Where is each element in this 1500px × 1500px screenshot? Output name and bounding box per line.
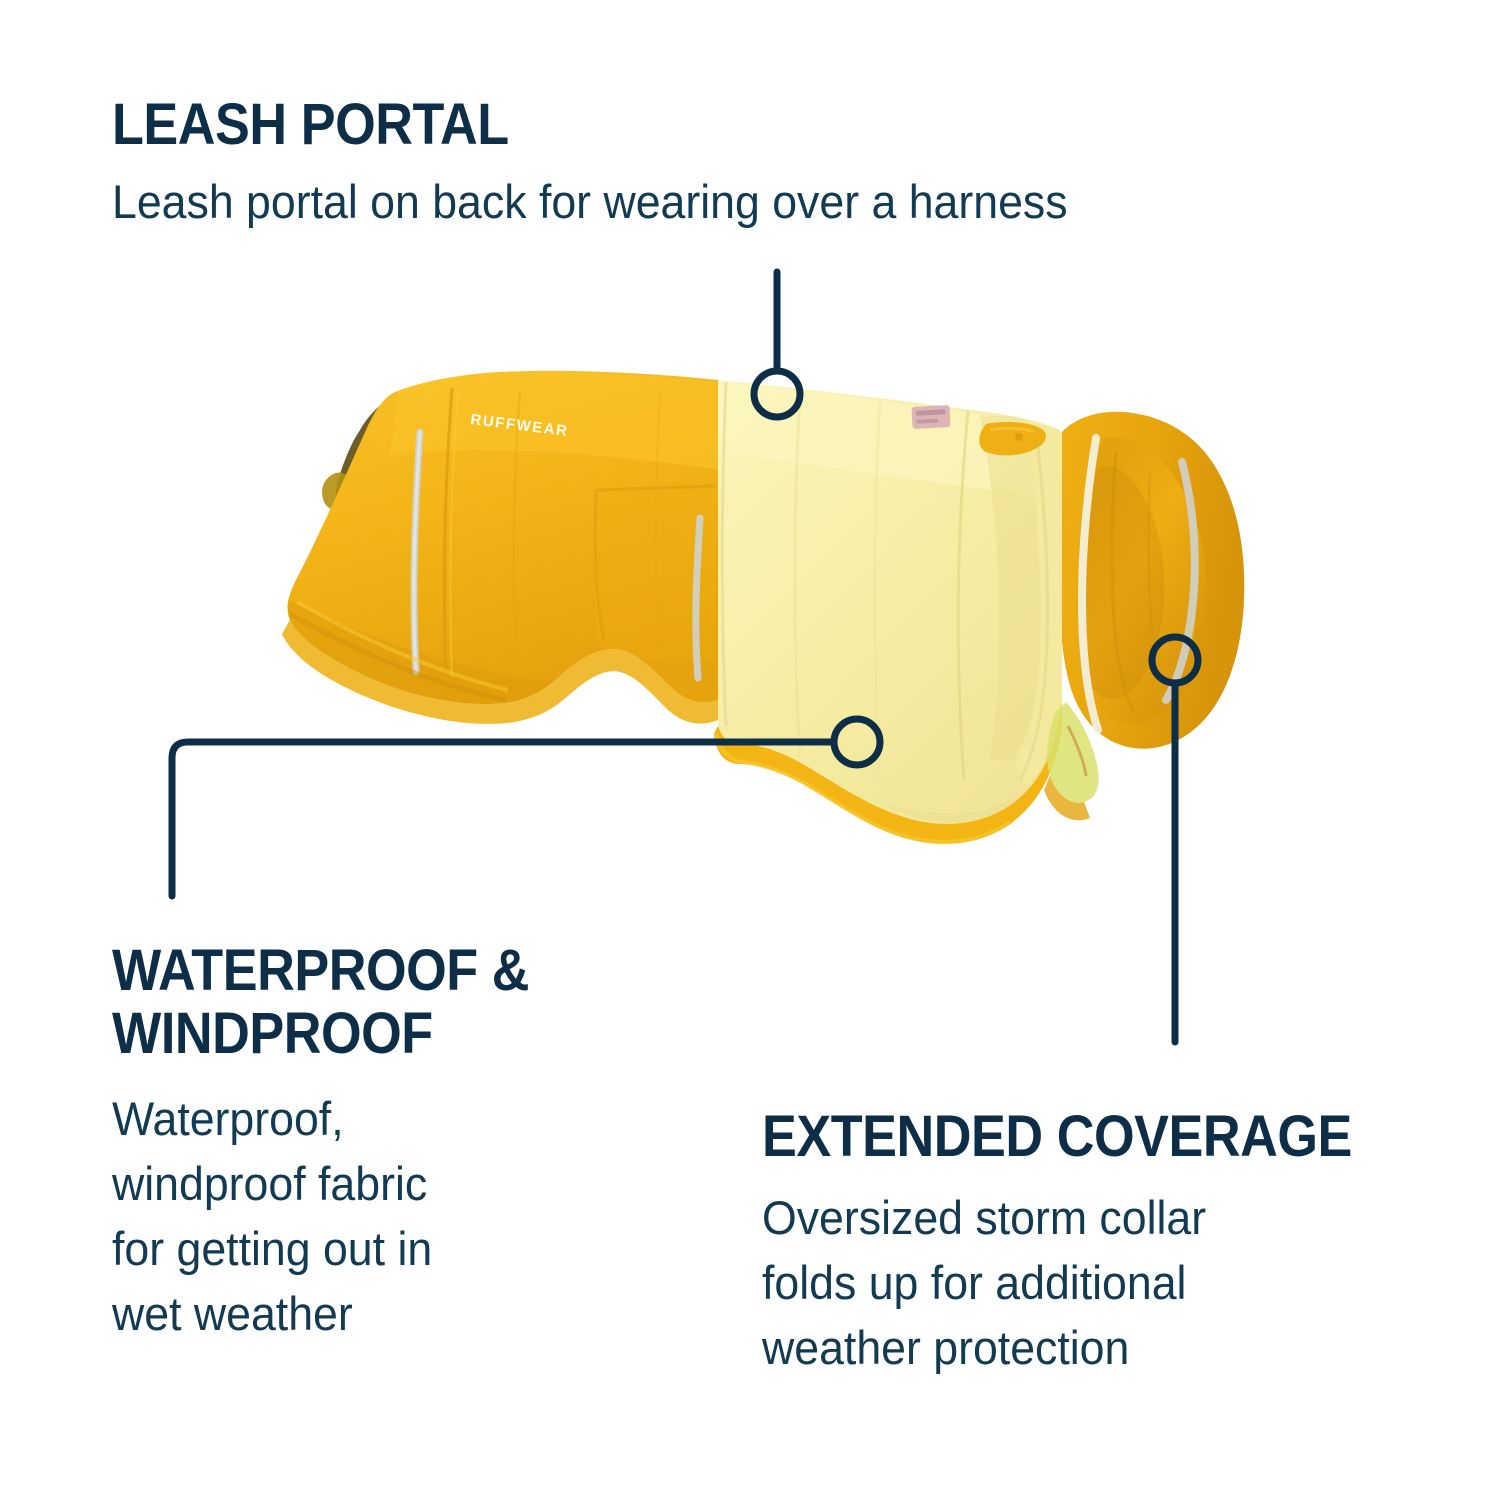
- callout-title-leash-portal: LEASH PORTAL: [112, 96, 1282, 154]
- callout-waterproof-windproof: WATERPROOF & WINDPROOF Waterproof, windp…: [112, 940, 672, 1347]
- callout-title-extended-coverage: EXTENDED COVERAGE: [762, 1108, 1392, 1166]
- callout-body-waterproof-windproof: Waterproof, windproof fabric for getting…: [112, 1087, 644, 1346]
- reflective-strip-front: [696, 518, 700, 678]
- jacket-group: RUFFWEAR: [282, 370, 1244, 844]
- callout-leash-portal: LEASH PORTAL Leash portal on back for we…: [112, 96, 1412, 229]
- callout-body-leash-portal: Leash portal on back for wearing over a …: [112, 174, 1347, 229]
- callout-body-extended-coverage: Oversized storm collar folds up for addi…: [762, 1186, 1427, 1381]
- callout-title-waterproof-windproof: WATERPROOF & WINDPROOF: [112, 940, 616, 1065]
- care-label: [911, 405, 950, 429]
- callout-extended-coverage: EXTENDED COVERAGE Oversized storm collar…: [762, 1108, 1462, 1381]
- product-feature-infographic: RUFFWEAR LEASH PORTAL Leash portal on ba…: [0, 0, 1500, 1500]
